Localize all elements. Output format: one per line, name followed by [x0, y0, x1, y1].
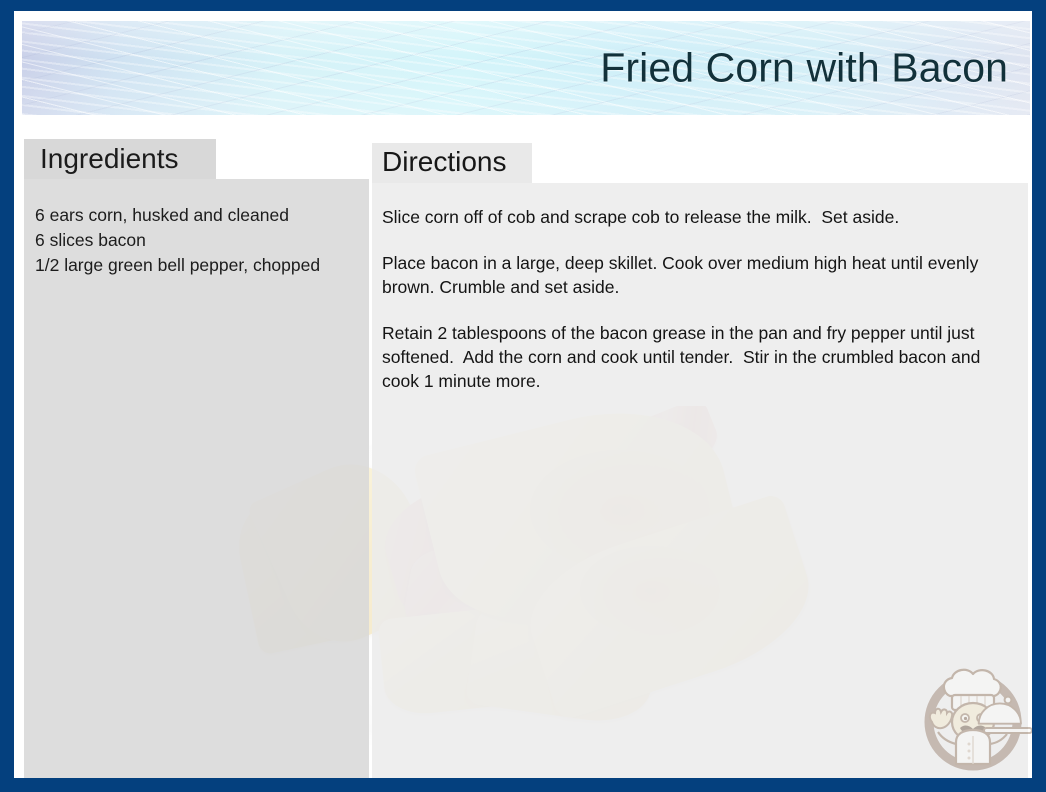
list-item: 6 slices bacon: [35, 228, 360, 253]
chef-logo: [912, 656, 1032, 778]
header-banner: Fried Corn with Bacon: [22, 21, 1030, 115]
direction-step: Slice corn off of cob and scrape cob to …: [382, 205, 1022, 229]
ingredients-list: 6 ears corn, husked and cleaned 6 slices…: [35, 203, 360, 278]
slide-canvas: Fried Corn with Bacon Ingredients 6 ears…: [14, 11, 1032, 778]
directions-heading-tab: Directions: [372, 143, 532, 183]
direction-step: Retain 2 tablespoons of the bacon grease…: [382, 321, 1022, 393]
page-title: Fried Corn with Bacon: [600, 45, 1008, 92]
direction-step: Place bacon in a large, deep skillet. Co…: [382, 251, 1022, 299]
recipe-slide: Fried Corn with Bacon Ingredients 6 ears…: [0, 0, 1046, 792]
ingredients-panel: 6 ears corn, husked and cleaned 6 slices…: [24, 179, 369, 778]
ingredients-heading: Ingredients: [40, 143, 179, 175]
list-item: 1/2 large green bell pepper, chopped: [35, 253, 360, 278]
chef-with-serving-dome-icon: [912, 656, 1032, 778]
directions-list: Slice corn off of cob and scrape cob to …: [382, 205, 1022, 393]
directions-heading: Directions: [382, 146, 506, 178]
ingredients-heading-tab: Ingredients: [24, 139, 216, 179]
list-item: 6 ears corn, husked and cleaned: [35, 203, 360, 228]
